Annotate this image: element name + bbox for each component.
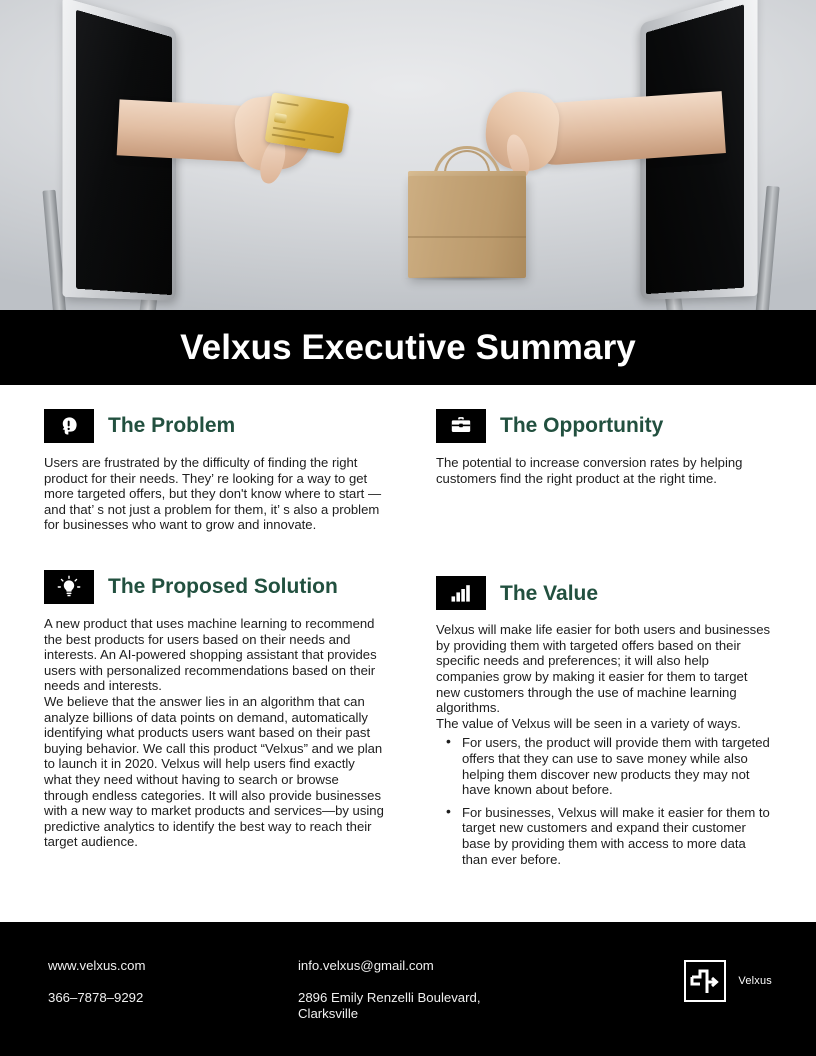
section-value: The Value Velxus will make life easier f…	[436, 576, 772, 867]
section-value-body: Velxus will make life easier for both us…	[436, 622, 772, 867]
spacer	[436, 490, 772, 576]
brand-block: Velxus	[684, 960, 772, 1002]
footer-email[interactable]: info.velxus@gmail.com	[298, 958, 588, 974]
velxus-logo-icon	[684, 960, 726, 1002]
section-problem: The Problem Users are frustrated by the …	[44, 409, 384, 533]
left-column: The Problem Users are frustrated by the …	[44, 409, 384, 874]
head-exclamation-icon	[44, 409, 94, 443]
bar-chart-icon	[436, 576, 486, 610]
section-opportunity: The Opportunity The potential to increas…	[436, 409, 772, 486]
paragraph: A new product that uses machine learning…	[44, 616, 384, 694]
paragraph: The value of Velxus will be seen in a va…	[436, 716, 772, 732]
footer-column-address: info.velxus@gmail.com 2896 Emily Renzell…	[298, 958, 588, 1022]
left-monitor-icon	[38, 14, 278, 310]
brand-name: Velxus	[738, 975, 772, 987]
section-solution-body: A new product that uses machine learning…	[44, 616, 384, 850]
section-value-title: The Value	[500, 582, 598, 605]
spacer	[44, 537, 384, 570]
footer-inner: www.velxus.com 366–7878–9292 info.velxus…	[0, 922, 816, 1056]
list-item: For businesses, Velxus will make it easi…	[462, 805, 772, 867]
section-solution-title: The Proposed Solution	[108, 575, 338, 598]
footer-address-line2: Clarksville	[298, 1006, 588, 1022]
section-solution-header: The Proposed Solution	[44, 570, 384, 604]
paragraph: The potential to increase conversion rat…	[436, 455, 772, 486]
paragraph: Velxus will make life easier for both us…	[436, 622, 772, 716]
paragraph: We believe that the answer lies in an al…	[44, 694, 384, 850]
footer-address-line1: 2896 Emily Renzelli Boulevard,	[298, 990, 588, 1006]
shopping-bag-shadow	[404, 276, 530, 281]
lightbulb-icon	[44, 570, 94, 604]
section-opportunity-body: The potential to increase conversion rat…	[436, 455, 772, 486]
section-problem-header: The Problem	[44, 409, 384, 443]
briefcase-icon	[436, 409, 486, 443]
footer-phone[interactable]: 366–7878–9292	[48, 990, 278, 1006]
footer: www.velxus.com 366–7878–9292 info.velxus…	[0, 922, 816, 1056]
footer-website[interactable]: www.velxus.com	[48, 958, 278, 974]
section-problem-body: Users are frustrated by the difficulty o…	[44, 455, 384, 533]
page-title: Velxus Executive Summary	[180, 328, 636, 368]
card-chip	[274, 113, 287, 124]
content-area: The Problem Users are frustrated by the …	[0, 385, 816, 874]
value-bullet-list: For users, the product will provide them…	[436, 735, 772, 867]
section-opportunity-title: The Opportunity	[500, 414, 663, 437]
list-item: For users, the product will provide them…	[462, 735, 772, 797]
section-value-header: The Value	[436, 576, 772, 610]
section-solution: The Proposed Solution A new product that…	[44, 570, 384, 850]
right-column: The Opportunity The potential to increas…	[436, 409, 772, 874]
section-opportunity-header: The Opportunity	[436, 409, 772, 443]
right-monitor-stand	[755, 186, 779, 310]
shopping-bag-icon	[408, 176, 526, 278]
footer-column-contact: www.velxus.com 366–7878–9292	[48, 958, 278, 1006]
hero-image	[0, 0, 816, 310]
section-problem-title: The Problem	[108, 414, 235, 437]
title-bar: Velxus Executive Summary	[0, 310, 816, 385]
paragraph: Users are frustrated by the difficulty o…	[44, 455, 384, 533]
shopping-bag-band	[408, 236, 526, 238]
executive-summary-page: Velxus Executive Summary The Problem	[0, 0, 816, 1056]
